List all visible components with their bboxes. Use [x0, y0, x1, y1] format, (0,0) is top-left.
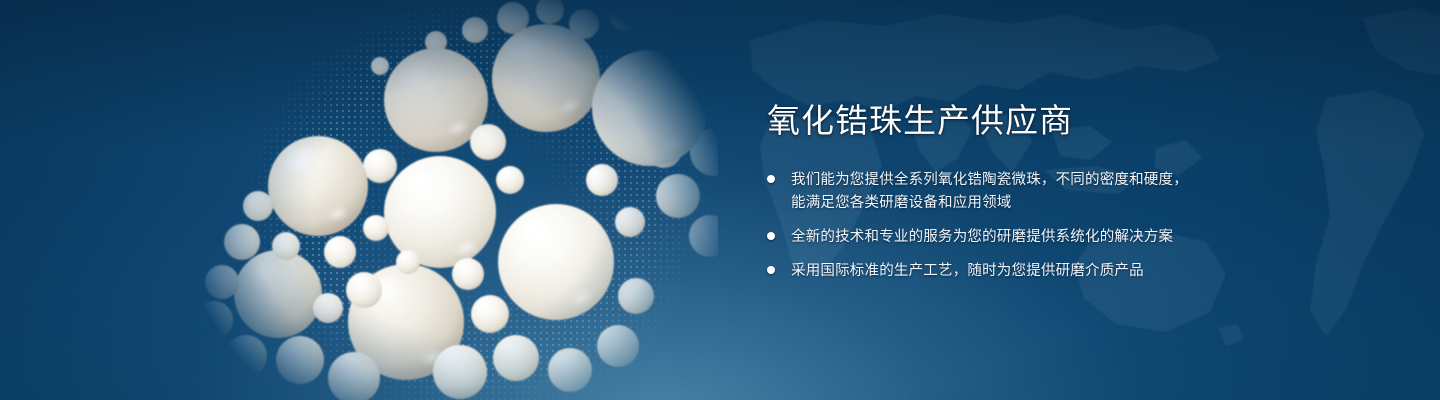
bullet-dot-icon — [767, 266, 775, 274]
bullet-dot-icon — [767, 175, 775, 183]
banner-copy: 氧化锆珠生产供应商 我们能为您提供全系列氧化锆陶瓷微珠，不同的密度和硬度， 能满… — [765, 104, 1285, 294]
zirconia-beads-image — [118, 0, 718, 400]
bullet-item-2: 全新的技术和专业的服务为您的研磨提供系统化的解决方案 — [765, 226, 1285, 249]
bullet-dot-icon — [767, 232, 775, 240]
bullet-item-1: 我们能为您提供全系列氧化锆陶瓷微珠，不同的密度和硬度， 能满足您各类研磨设备和应… — [765, 169, 1285, 215]
bullet-text-1: 我们能为您提供全系列氧化锆陶瓷微珠，不同的密度和硬度， 能满足您各类研磨设备和应… — [791, 169, 1188, 215]
banner-headline: 氧化锆珠生产供应商 — [767, 104, 1285, 137]
bullet-text-2: 全新的技术和专业的服务为您的研磨提供系统化的解决方案 — [791, 226, 1173, 249]
banner-bullet-list: 我们能为您提供全系列氧化锆陶瓷微珠，不同的密度和硬度， 能满足您各类研磨设备和应… — [765, 169, 1285, 283]
bullet-text-1-line-2: 能满足您各类研磨设备和应用领域 — [791, 195, 1012, 211]
bullet-text-3: 采用国际标准的生产工艺，随时为您提供研磨介质产品 — [791, 260, 1144, 283]
bullet-text-1-line-1: 我们能为您提供全系列氧化锆陶瓷微珠，不同的密度和硬度， — [791, 172, 1188, 188]
hero-banner: 氧化锆珠生产供应商 我们能为您提供全系列氧化锆陶瓷微珠，不同的密度和硬度， 能满… — [0, 0, 1440, 400]
bullet-item-3: 采用国际标准的生产工艺，随时为您提供研磨介质产品 — [765, 260, 1285, 283]
